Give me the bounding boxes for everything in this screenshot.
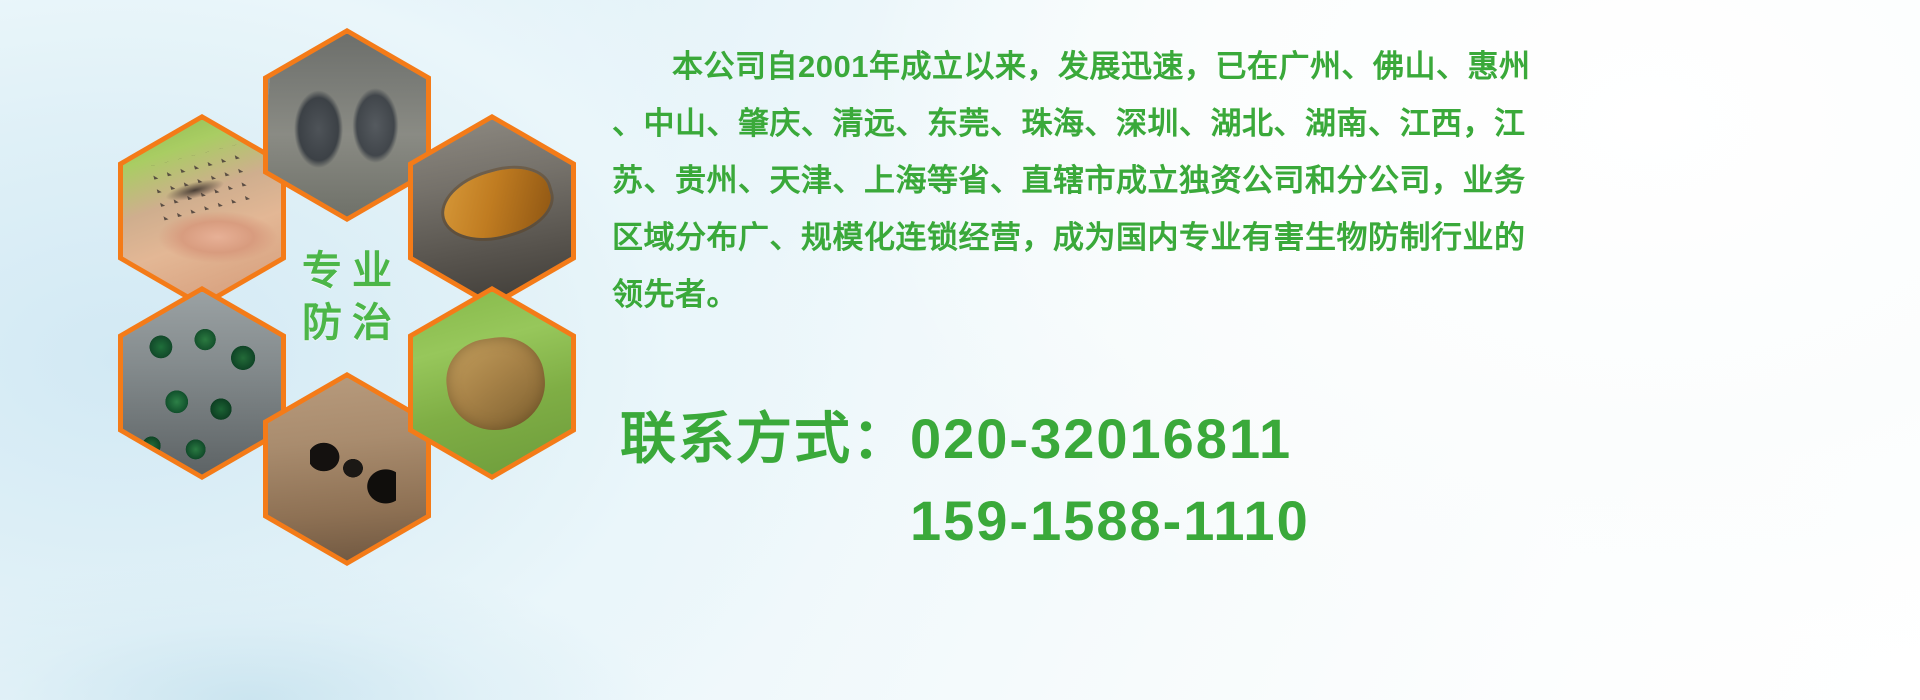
flies-image (123, 292, 281, 475)
mosquito-image (123, 120, 281, 303)
mosquito-photo (118, 114, 286, 308)
logo-badge-line2: 防治 (292, 303, 402, 343)
cockroach-photo-frame (413, 120, 571, 303)
contact-secondary-line: 159-1588-1110 (620, 480, 1720, 562)
stinkbug-photo-frame (413, 292, 571, 475)
contact-label: 联系方式： (620, 407, 910, 470)
stinkbug-photo (408, 286, 576, 480)
contact-phone-secondary[interactable]: 159-1588-1110 (910, 489, 1310, 552)
intro-line-2: 、中山、肇庆、清远、东莞、珠海、深圳、湖北、湖南、江西，江 (612, 95, 1902, 152)
contact-primary-line: 联系方式：020-32016811 (620, 398, 1720, 480)
rats-image (268, 34, 426, 217)
ants-image (268, 378, 426, 561)
contact-block: 联系方式：020-32016811 159-1588-1110 (620, 398, 1720, 562)
company-intro-paragraph: 本公司自2001年成立以来，发展迅速，已在广州、佛山、惠州 、中山、肇庆、清远、… (612, 38, 1902, 323)
stinkbug-image (413, 292, 571, 475)
contact-phone-primary[interactable]: 020-32016811 (910, 407, 1292, 470)
pest-control-banner: 专业 防治 本公司自2001年成立以来，发展迅速，已在广州、佛山、惠州 、中山、… (0, 0, 1920, 700)
intro-line-1: 本公司自2001年成立以来，发展迅速，已在广州、佛山、惠州 (612, 38, 1902, 95)
flies-photo-frame (123, 292, 281, 475)
cockroach-photo (408, 114, 576, 308)
logo-badge: 专业 防治 (263, 200, 431, 394)
intro-line-4: 区域分布广、规模化连锁经营，成为国内专业有害生物防制行业的 (612, 209, 1902, 266)
mosquito-photo-frame (123, 120, 281, 303)
ants-photo (263, 372, 431, 566)
rats-photo-frame (268, 34, 426, 217)
flies-photo (118, 286, 286, 480)
logo-badge-line1: 专业 (292, 251, 402, 291)
intro-line-3: 苏、贵州、天津、上海等省、直辖市成立独资公司和分公司，业务 (612, 152, 1902, 209)
cockroach-image (413, 120, 571, 303)
rats-photo (263, 28, 431, 222)
honeycomb-photo-cluster: 专业 防治 (88, 14, 588, 574)
intro-line-5: 领先者。 (612, 266, 1902, 323)
ants-photo-frame (268, 378, 426, 561)
